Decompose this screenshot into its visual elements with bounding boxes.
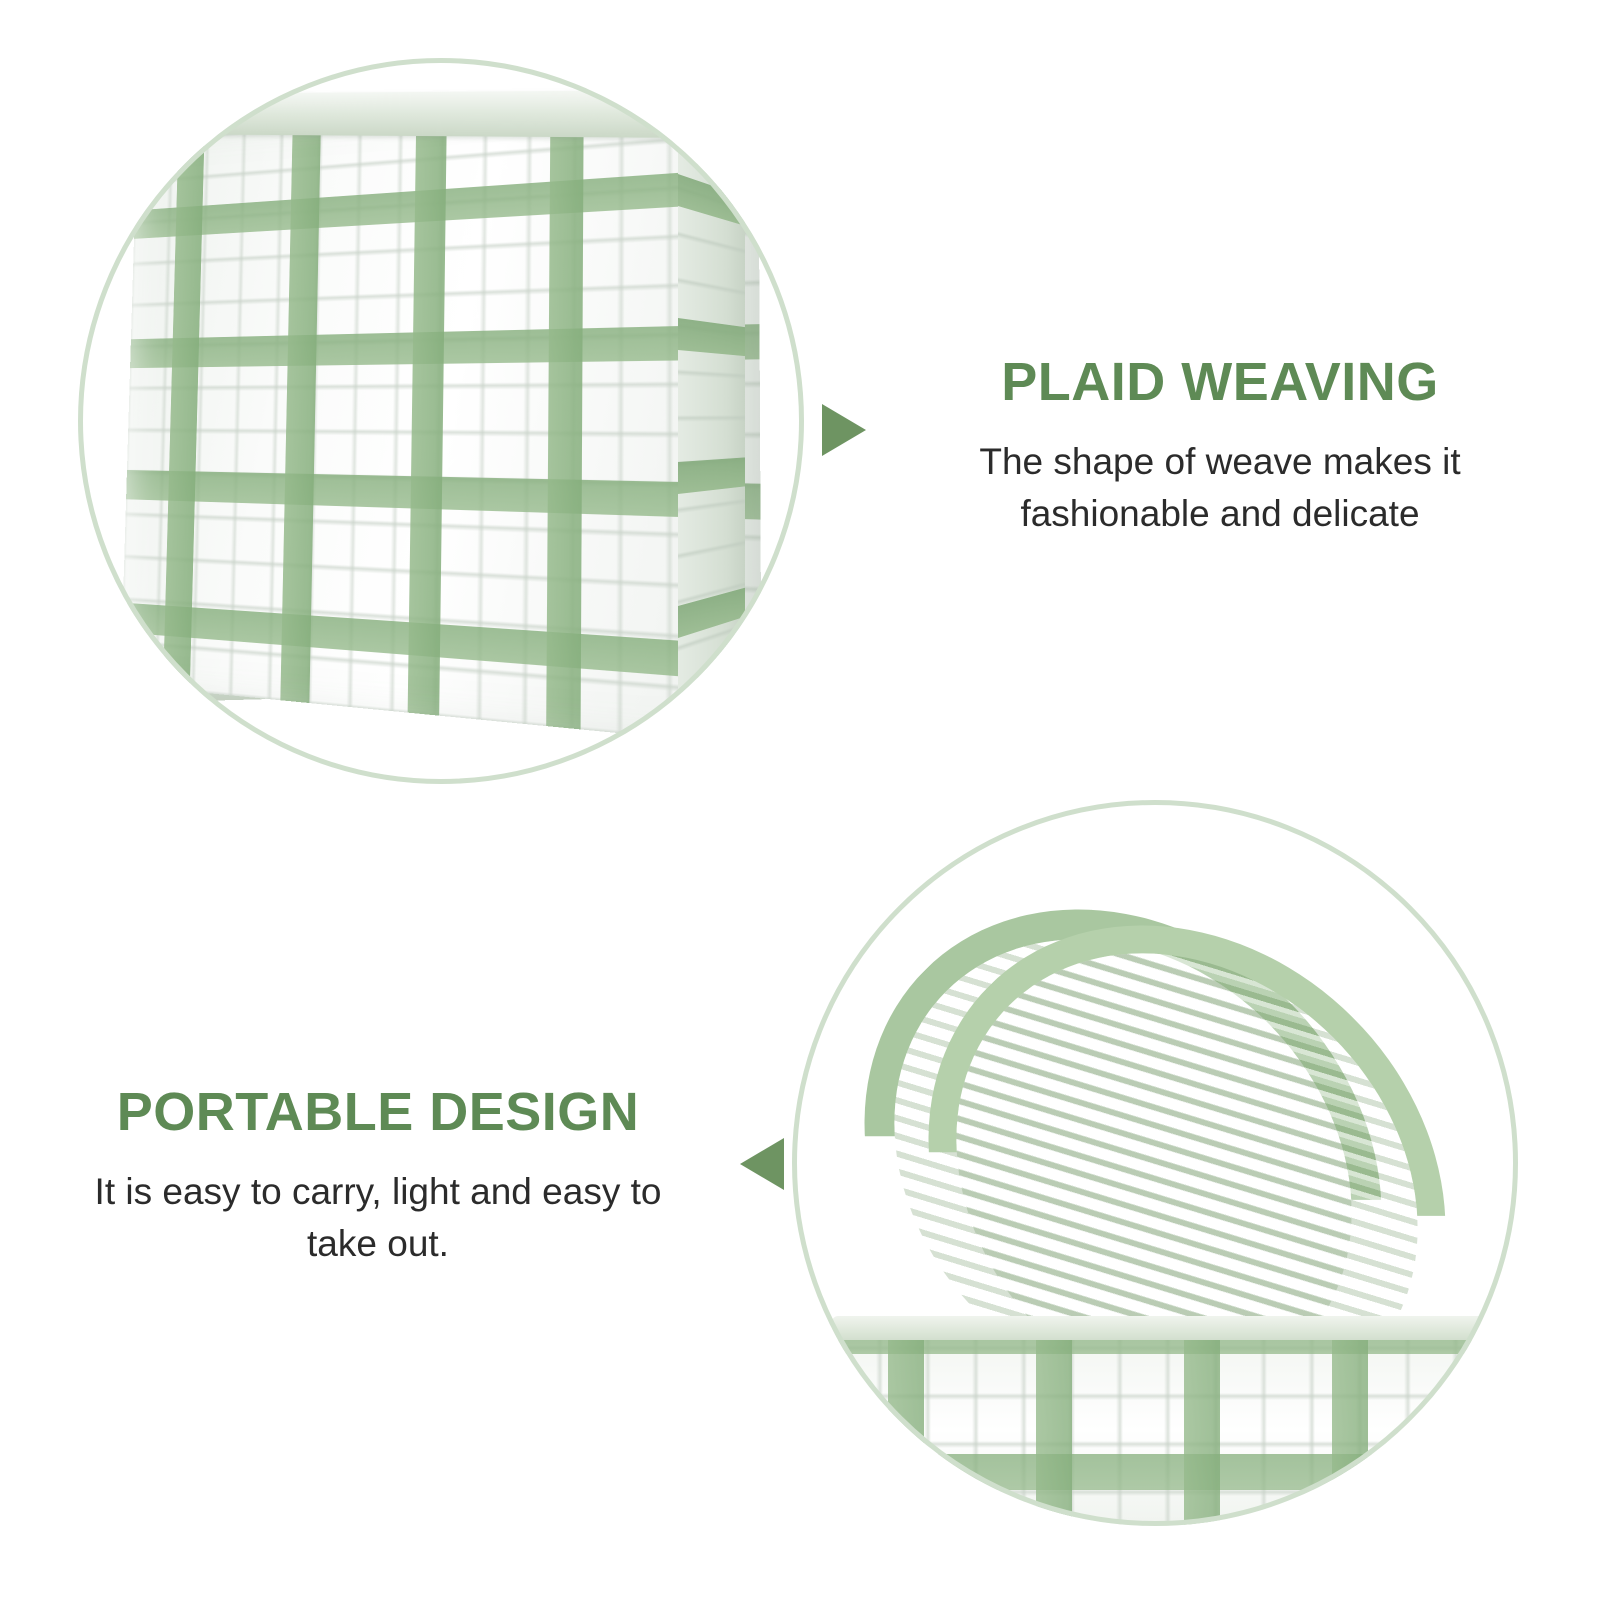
basket-front-panel: [120, 81, 761, 747]
arrow-left-icon: [740, 1138, 784, 1190]
feature-description-plaid-weaving: The shape of weave makes it fashionable …: [900, 436, 1540, 540]
feature-portable-design: PORTABLE DESIGN It is easy to carry, lig…: [58, 1080, 698, 1270]
basket-rim: [128, 90, 769, 139]
feature-title-portable-design: PORTABLE DESIGN: [58, 1080, 698, 1144]
plaid-weaving-photo: [78, 58, 804, 784]
feature-title-plaid-weaving: PLAID WEAVING: [900, 350, 1540, 414]
basket-handles-illustration: [792, 800, 1518, 1526]
feature-plaid-weaving: PLAID WEAVING The shape of weave makes i…: [900, 350, 1540, 540]
feature-description-portable-design: It is easy to carry, light and easy to t…: [58, 1166, 698, 1270]
basket-side-panel: [678, 134, 745, 694]
basket-corner-illustration: [78, 58, 804, 784]
basket-graphic: [78, 88, 804, 768]
basket-handles-graphic: [792, 800, 1518, 1526]
basket-woven-wall: [832, 1340, 1492, 1526]
arrow-right-icon: [822, 404, 866, 456]
portable-design-photo: [792, 800, 1518, 1526]
